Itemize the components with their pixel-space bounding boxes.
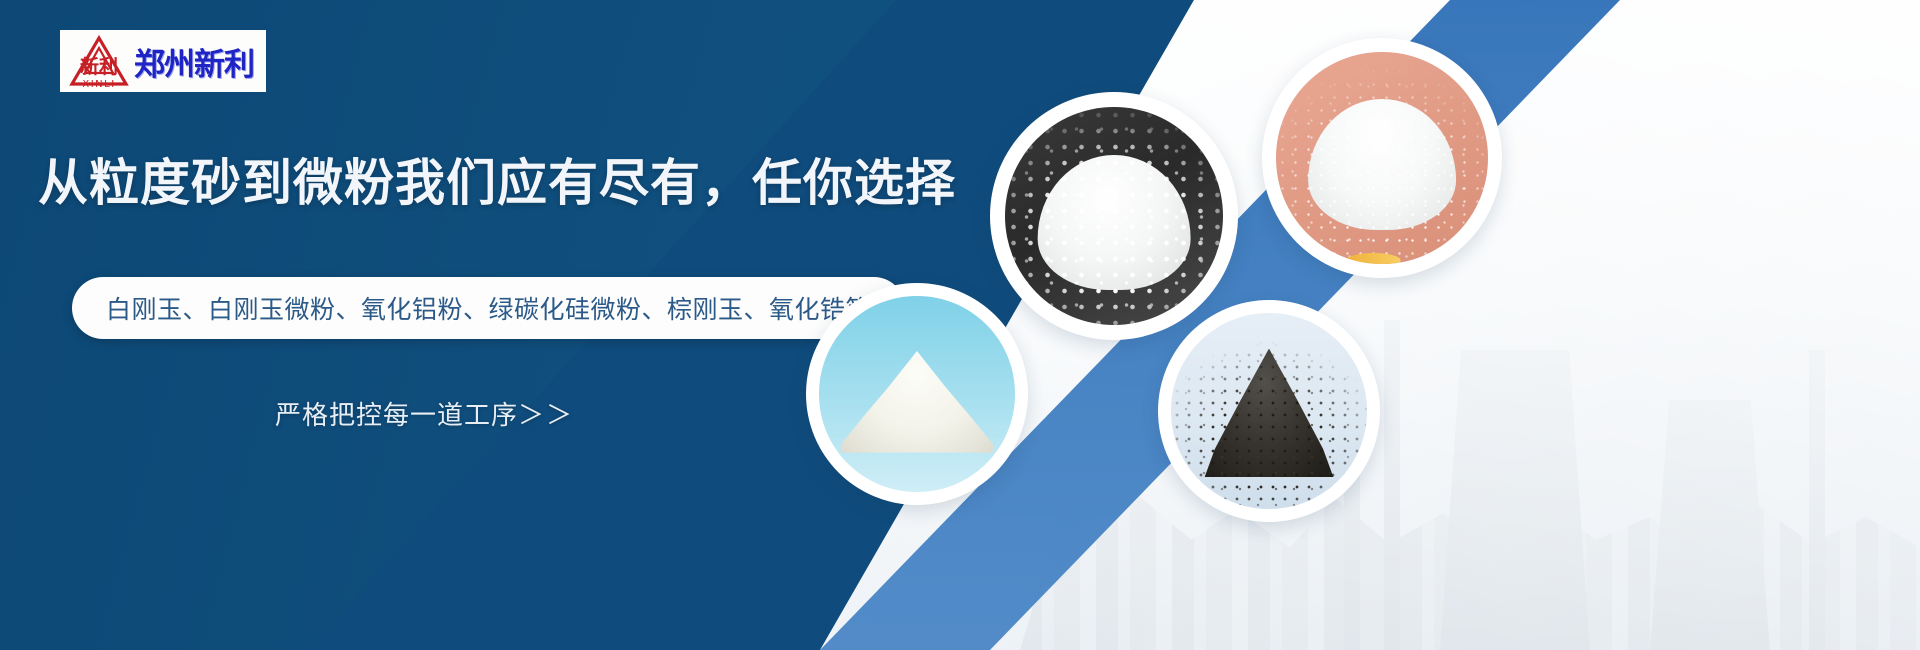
xinli-triangle-icon: 新利 XINLI: [68, 33, 130, 89]
smokestack-icon: [1809, 350, 1825, 650]
grain-scatter: [1171, 313, 1366, 508]
cta-arrow-icon: ＞＞: [518, 401, 574, 431]
cta-link[interactable]: 严格把控每一道工序＞＞: [275, 395, 574, 432]
product-photo: [1276, 52, 1487, 263]
grain-scatter: [1276, 52, 1487, 263]
svg-text:XINLI: XINLI: [82, 79, 115, 89]
product-photo: [1171, 313, 1366, 508]
grain-scatter: [1005, 107, 1223, 325]
product-circle-white-fused-alumina-grit[interactable]: [990, 92, 1238, 340]
brand-name-cn: 郑州新利: [134, 39, 254, 84]
promo-banner: 新利 XINLI 郑州新利 从粒度砂到微粉我们应有尽有，任你选择 白刚玉、白刚玉…: [0, 0, 1920, 650]
product-photo: [819, 296, 1014, 491]
cooling-tower-icon: [1650, 400, 1770, 650]
cta-label: 严格把控每一道工序: [275, 401, 518, 431]
product-circle-black-silicon-carbide[interactable]: [1158, 300, 1380, 522]
product-circle-alumina-micro-powder[interactable]: [806, 283, 1028, 505]
cooling-tower-icon: [1440, 350, 1590, 650]
product-circle-white-alumina-powder[interactable]: [1262, 38, 1502, 278]
product-photo: [1005, 107, 1223, 325]
svg-text:新利: 新利: [80, 55, 118, 78]
brand-logo[interactable]: 新利 XINLI 郑州新利: [60, 30, 266, 92]
photo-accent: [1346, 253, 1401, 264]
powder-mound: [841, 351, 993, 453]
smokestack-icon: [1384, 320, 1400, 650]
page-title: 从粒度砂到微粉我们应有尽有，任你选择: [38, 143, 956, 215]
product-list-pill: 白刚玉、白刚玉微粉、氧化铝粉、绿碳化硅微粉、棕刚玉、氧化锆等: [72, 277, 905, 339]
product-list-text: 白刚玉、白刚玉微粉、氧化铝粉、绿碳化硅微粉、棕刚玉、氧化锆等: [106, 290, 871, 326]
